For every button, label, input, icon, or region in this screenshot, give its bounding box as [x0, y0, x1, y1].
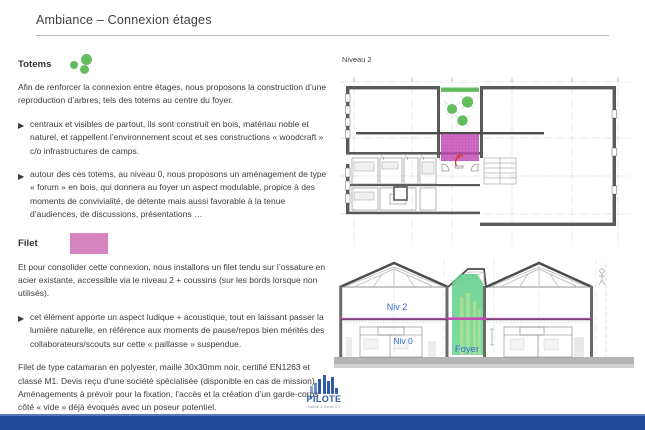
paragraph-text: centraux et visibles de partout, ils son… — [30, 119, 323, 156]
content-column: Totems Afin de renforcer la connexion en… — [18, 52, 328, 425]
paragraph-bullet: ▶ centraux et visibles de partout, ils s… — [18, 118, 328, 158]
paragraph: Et pour consolider cette connexion, nous… — [18, 261, 328, 301]
pilote-logo-tagline: habitat & travail 3.0 — [301, 405, 347, 409]
paragraph-text: cet élément apporte un aspect ludique + … — [30, 312, 324, 349]
section-label-foyer: Foyer — [455, 344, 479, 355]
building-section-drawing: Niv 2 Niv 0 Foyer — [334, 257, 634, 375]
section-net-line — [448, 317, 486, 320]
plan-caption: Niveau 2 — [342, 55, 372, 64]
section-label-filet: Filet — [18, 238, 70, 249]
plan-totems — [444, 96, 474, 126]
paragraph-bullet: ▶ autour des ces totems, au niveau 0, no… — [18, 168, 328, 222]
pilote-logo: PILOTE habitat & travail 3.0 — [301, 374, 347, 412]
paragraph: Filet de type catamaran en polyester, ma… — [18, 361, 328, 415]
section-header-filet: Filet — [18, 232, 328, 256]
paragraph-bullet: ▶ cet élément apporte un aspect ludique … — [18, 311, 328, 351]
floor-plan-drawing — [334, 68, 634, 250]
section-label-niv2: Niv 2 — [387, 302, 408, 312]
magenta-swatch-icon — [70, 233, 108, 254]
pilote-logo-mark-icon — [301, 374, 347, 394]
triangle-bullet-icon: ▶ — [18, 170, 24, 183]
page-title: Ambiance – Connexion étages — [36, 13, 212, 27]
paragraph: Afin de renforcer la connexion entre éta… — [18, 81, 328, 108]
title-divider — [36, 35, 609, 36]
footer-bar — [0, 414, 645, 430]
drawings-column: Niveau 2 — [334, 52, 634, 402]
plan-stairs — [484, 158, 516, 184]
section-header-totems: Totems — [18, 52, 328, 76]
section-label-niv0: Niv 0 — [393, 336, 413, 346]
section-label-totems: Totems — [18, 59, 70, 70]
triangle-bullet-icon: ▶ — [18, 312, 24, 325]
paragraph-text: autour des ces totems, au niveau 0, nous… — [30, 169, 326, 219]
green-dots-cluster-icon — [70, 53, 104, 75]
triangle-bullet-icon: ▶ — [18, 119, 24, 132]
plan-green-strip — [441, 88, 479, 92]
pilote-logo-word: PILOTE — [301, 394, 347, 405]
